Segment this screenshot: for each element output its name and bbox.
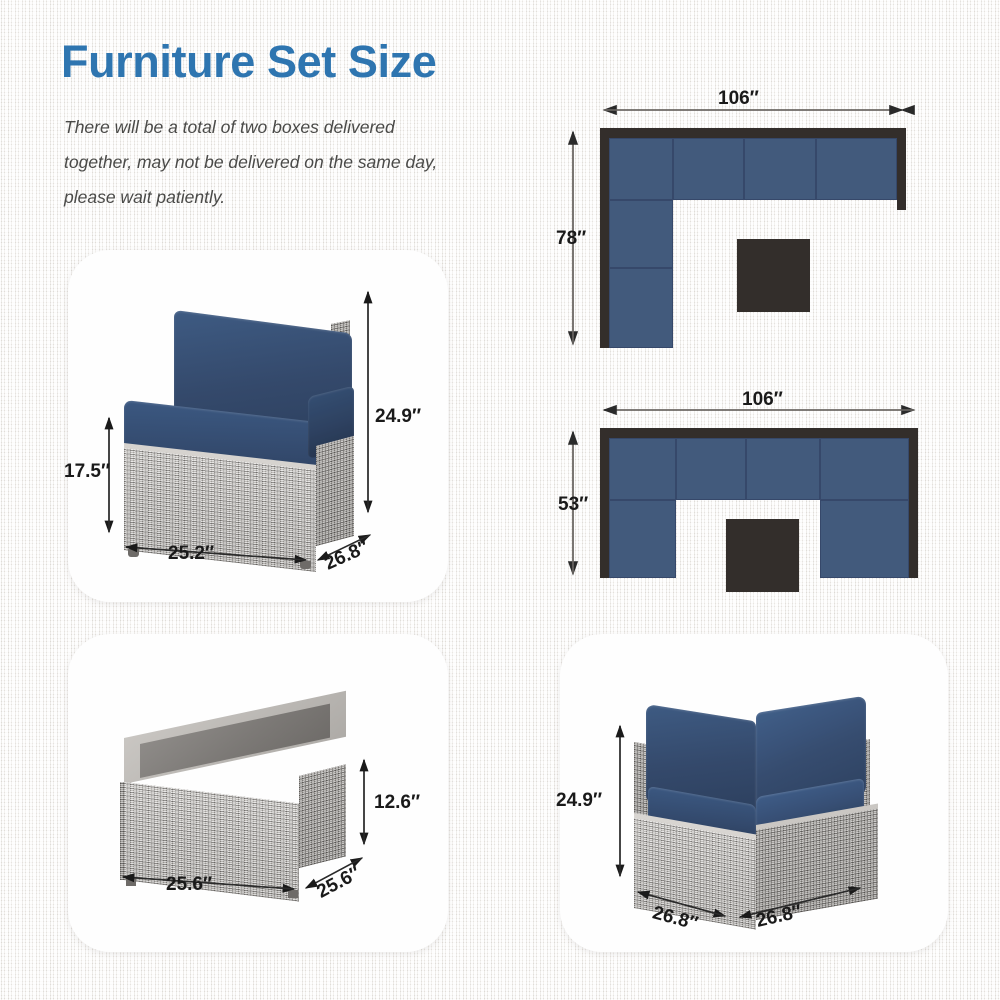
plan-frame-right	[909, 428, 918, 578]
plan-coffee-table	[737, 239, 810, 312]
furniture-size-infographic: Furniture Set Size There will be a total…	[0, 0, 1000, 1000]
plan-seat	[609, 200, 673, 268]
page-title: Furniture Set Size	[61, 36, 436, 88]
plan-seat	[820, 438, 909, 500]
layout-u-height-label: 53″	[558, 494, 588, 516]
plan-frame-right-stub	[897, 128, 906, 210]
plan-seat-corner-right	[820, 500, 909, 578]
layout-l-width-label: 106″	[718, 88, 759, 110]
plan-seat	[673, 138, 744, 200]
corner-height-label: 24.9″	[556, 790, 602, 812]
plan-seat	[609, 438, 676, 500]
plan-frame-top	[600, 128, 906, 138]
plan-seat-corner-left	[609, 500, 676, 578]
table-side-face	[299, 764, 346, 868]
table-left-edge	[120, 782, 125, 880]
plan-seat	[676, 438, 746, 500]
armless-height-seat-label: 17.5″	[64, 461, 110, 483]
armless-height-overall-label: 24.9″	[375, 406, 421, 428]
table-foot	[288, 890, 298, 898]
product-card-corner-chair: 24.9″ 26.8″ 26.8″	[560, 634, 948, 952]
plan-coffee-table	[726, 519, 799, 592]
table-height-label: 12.6″	[374, 792, 420, 814]
plan-seat	[746, 438, 820, 500]
table-width-label: 25.6″	[166, 874, 212, 896]
plan-seat-corner	[609, 138, 673, 200]
corner-chair-photo	[560, 634, 948, 952]
plan-seat	[744, 138, 816, 200]
layout-diagram-l-shape	[600, 128, 930, 348]
chair-base-side	[316, 436, 354, 546]
product-card-coffee-table: 12.6″ 25.6″ 25.6″	[68, 634, 448, 952]
plan-seat	[816, 138, 897, 200]
chair-foot	[300, 561, 311, 569]
product-card-armless-chair: 24.9″ 17.5″ 25.2″ 26.8″	[68, 250, 448, 602]
delivery-note: There will be a total of two boxes deliv…	[64, 110, 464, 215]
layout-u-width-label: 106″	[742, 389, 783, 411]
plan-frame-left	[600, 428, 609, 578]
armless-width-label: 25.2″	[168, 543, 214, 565]
plan-frame-left	[600, 128, 609, 348]
plan-frame-top	[600, 428, 918, 438]
table-foot	[126, 878, 136, 886]
chair-foot	[128, 549, 139, 557]
plan-seat	[609, 268, 673, 348]
layout-diagram-u-shape	[600, 428, 930, 578]
layout-l-height-label: 78″	[556, 228, 586, 250]
